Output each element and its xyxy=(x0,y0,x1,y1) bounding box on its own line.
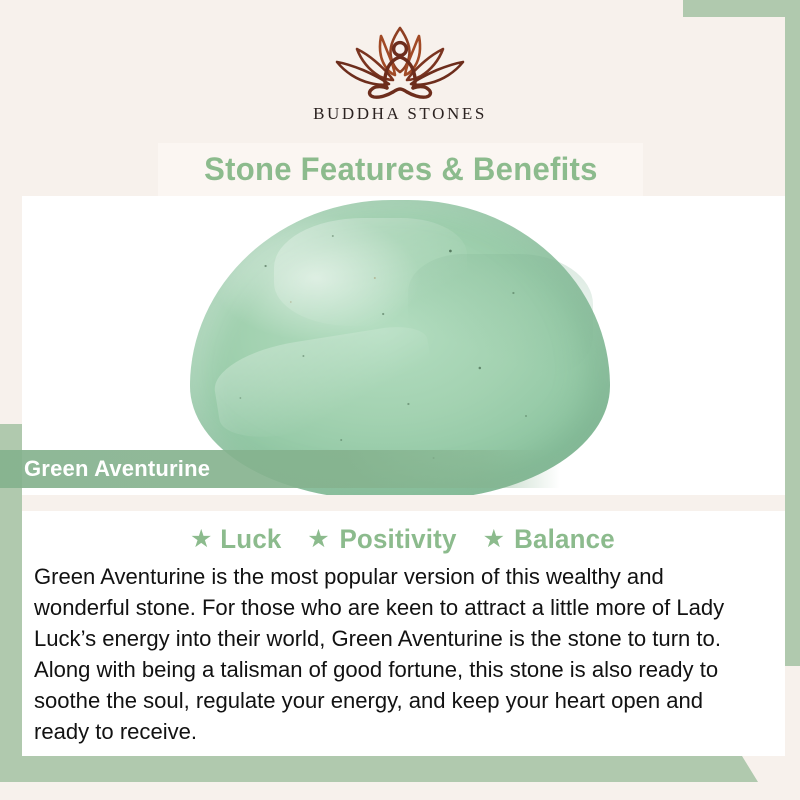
stone-description: Green Aventurine is the most popular ver… xyxy=(34,561,763,747)
benefit-label: Positivity xyxy=(339,524,456,555)
brand-header: BUDDHA STONES xyxy=(0,0,800,145)
star-icon: ★ xyxy=(307,527,329,552)
benefit-item-luck: ★ Luck xyxy=(190,524,283,555)
brand-wordmark: BUDDHA STONES xyxy=(313,104,487,124)
benefit-item-positivity: ★ Positivity xyxy=(307,524,458,555)
benefit-item-balance: ★ Balance xyxy=(483,524,617,555)
stone-name-bar: Green Aventurine xyxy=(0,450,560,488)
benefit-label: Luck xyxy=(221,524,282,555)
section-title-banner: Stone Features & Benefits xyxy=(158,143,643,196)
section-divider xyxy=(22,495,785,511)
star-icon: ★ xyxy=(483,527,505,552)
infographic-page: BUDDHA STONES Stone Features & Benefits … xyxy=(0,0,800,800)
benefits-row: ★ Luck ★ Positivity ★ Balance xyxy=(22,518,785,560)
page-title: Stone Features & Benefits xyxy=(204,151,598,188)
lotus-meditation-icon xyxy=(325,22,475,100)
stone-name-label: Green Aventurine xyxy=(24,456,210,482)
benefit-label: Balance xyxy=(514,524,615,555)
star-icon: ★ xyxy=(190,527,212,552)
frame-band-bottom xyxy=(0,756,740,782)
frame-band-bottom-corner xyxy=(718,756,758,782)
